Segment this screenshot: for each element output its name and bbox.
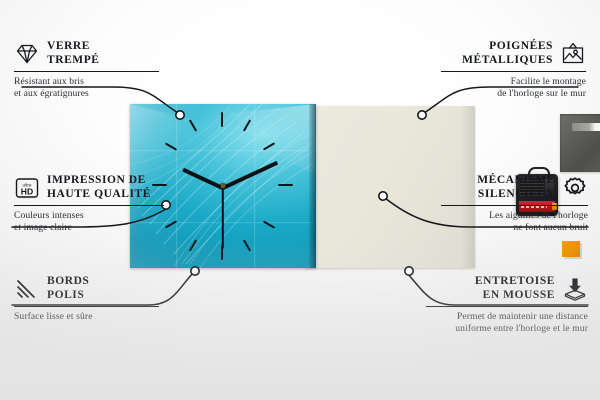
- divider: [14, 205, 164, 206]
- feature-description: Les aiguilles de l'horloge ne font aucun…: [441, 210, 588, 234]
- clock-tick: [221, 112, 223, 127]
- feature-header: VERRE TREMPÉ: [14, 40, 159, 67]
- feature-title: IMPRESSION DE HAUTE QUALITÉ: [47, 174, 151, 201]
- feature-title: MÉCANISME SILENCIEUX: [441, 174, 555, 201]
- feature-description: Couleurs intenses et image claire: [14, 210, 164, 234]
- clock-second-hand: [222, 187, 224, 249]
- metal-hanger-plate: [560, 114, 600, 172]
- foam-spacer-arrow-icon: [562, 276, 588, 302]
- feature-title: ENTRETOISE EN MOUSSE: [426, 275, 555, 302]
- feature-title: VERRE TREMPÉ: [47, 40, 100, 67]
- feature-header: POIGNÉES MÉTALLIQUES: [441, 40, 586, 67]
- clock-tick: [278, 184, 293, 186]
- picture-frame-hanger-icon: [560, 41, 586, 67]
- feature-description: Résistant aux bris et aux égratignures: [14, 76, 159, 100]
- divider: [441, 71, 586, 72]
- polished-edge-icon: [14, 276, 40, 302]
- gear-icon: [562, 175, 588, 201]
- hanger-slot: [572, 123, 600, 131]
- feature-impression-haute-qualite: ultra HD IMPRESSION DE HAUTE QUALITÉ Cou…: [14, 174, 164, 234]
- feature-header: BORDS POLIS: [14, 275, 159, 302]
- clock-side-edge: [309, 104, 316, 268]
- feature-description: Facilite le montage de l'horloge sur le …: [441, 76, 586, 100]
- divider: [441, 205, 588, 206]
- feature-verre-trempe: VERRE TREMPÉ Résistant aux bris et aux é…: [14, 40, 159, 100]
- diamond-icon: [14, 41, 40, 67]
- feature-header: ultra HD IMPRESSION DE HAUTE QUALITÉ: [14, 174, 164, 201]
- svg-text:HD: HD: [21, 186, 33, 196]
- feature-title: POIGNÉES MÉTALLIQUES: [441, 40, 553, 67]
- feature-description: Permet de maintenir une distance uniform…: [426, 311, 588, 335]
- feature-entretoise-en-mousse: ENTRETOISE EN MOUSSE Permet de maintenir…: [426, 275, 588, 335]
- product-image: [130, 104, 475, 269]
- feature-mecanisme-silencieux: MÉCANISME SILENCIEUX Les aiguilles de l'…: [441, 174, 588, 234]
- divider: [426, 306, 588, 307]
- infographic-canvas: VERRE TREMPÉ Résistant aux bris et aux é…: [0, 0, 600, 400]
- ultra-hd-icon: ultra HD: [14, 175, 40, 201]
- feature-bords-polis: BORDS POLIS Surface lisse et sûre: [14, 275, 159, 323]
- clock-center-hub: [221, 184, 226, 189]
- divider: [14, 71, 159, 72]
- feature-title: BORDS POLIS: [47, 275, 89, 302]
- divider: [14, 306, 159, 307]
- foam-spacer-pad: [562, 241, 580, 257]
- feature-poignees-metalliques: POIGNÉES MÉTALLIQUES Facilite le montage…: [441, 40, 586, 100]
- feature-header: MÉCANISME SILENCIEUX: [441, 174, 588, 201]
- feature-description: Surface lisse et sûre: [14, 311, 159, 323]
- feature-header: ENTRETOISE EN MOUSSE: [426, 275, 588, 302]
